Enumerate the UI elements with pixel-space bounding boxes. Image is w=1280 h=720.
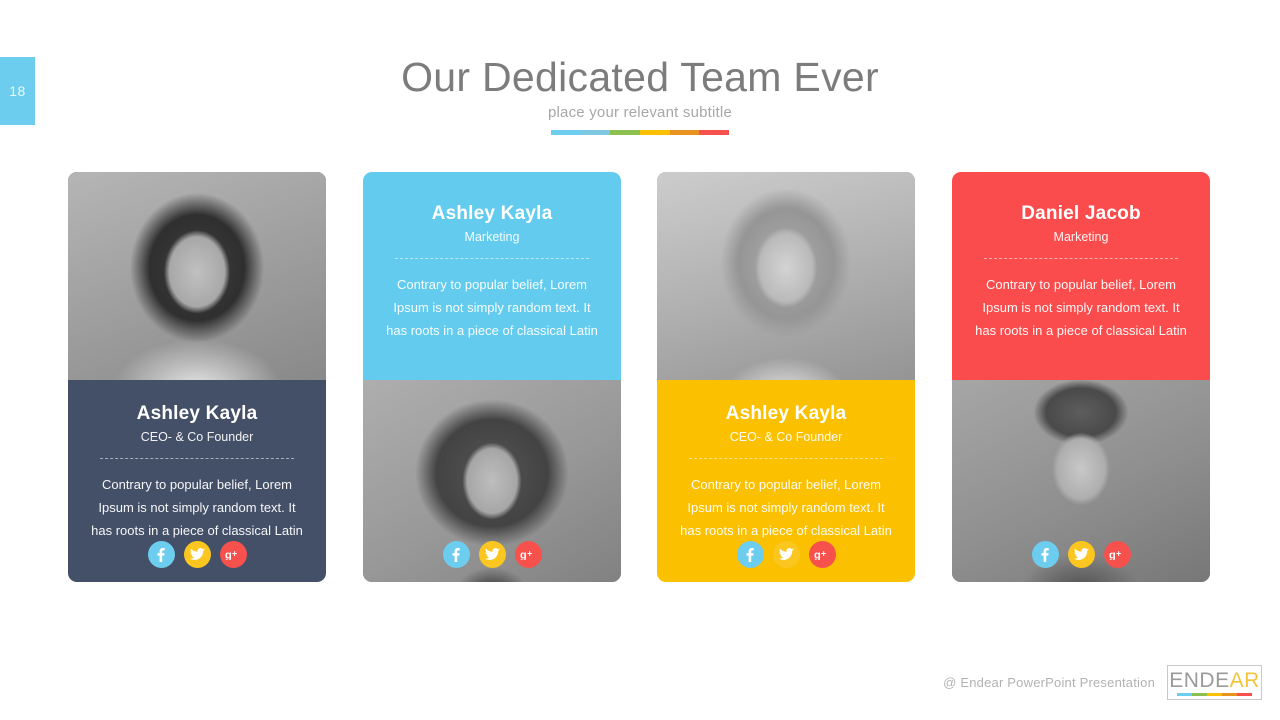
slide-root: 18 Our Dedicated Team Ever place your re… (0, 0, 1280, 720)
google-plus-icon[interactable]: g+ (515, 541, 542, 568)
svg-text:+: + (527, 549, 532, 559)
team-card-1-inner: Ashley Kayla CEO- & Co Founder Contrary … (68, 172, 326, 582)
slide-footer: @ Endear PowerPoint Presentation ENDEAR (943, 665, 1262, 700)
logo-bar-segment-1 (1177, 693, 1192, 696)
team-card-2-name: Ashley Kayla (379, 202, 605, 226)
google-plus-icon[interactable]: g+ (1104, 541, 1131, 568)
twitter-icon[interactable] (479, 541, 506, 568)
team-card-4-description: Contrary to popular belief, Lorem Ipsum … (968, 273, 1194, 342)
team-card-1-role: CEO- & Co Founder (84, 429, 310, 445)
endear-logo-part-1: ENDE (1169, 669, 1229, 692)
google-plus-icon[interactable]: g+ (220, 541, 247, 568)
team-cards-row: Ashley Kayla CEO- & Co Founder Contrary … (68, 172, 1216, 592)
team-card-4-socials: g+ (952, 541, 1210, 568)
endear-logo: ENDEAR (1167, 665, 1262, 700)
team-card-4-divider (984, 258, 1178, 259)
endear-logo-color-bar (1177, 693, 1252, 696)
team-card-3-role: CEO- & Co Founder (673, 429, 899, 445)
page-title: Our Dedicated Team Ever (0, 52, 1280, 102)
accent-segment-5 (670, 130, 700, 135)
team-card-1[interactable]: Ashley Kayla CEO- & Co Founder Contrary … (68, 172, 326, 582)
facebook-icon[interactable] (737, 541, 764, 568)
svg-text:g: g (520, 550, 527, 561)
svg-text:+: + (1116, 549, 1121, 559)
team-card-3-name: Ashley Kayla (673, 402, 899, 426)
team-card-3-socials: g+ (657, 541, 915, 568)
facebook-icon[interactable] (148, 541, 175, 568)
team-card-1-name: Ashley Kayla (84, 402, 310, 426)
svg-text:+: + (821, 549, 826, 559)
team-card-2-socials: g+ (363, 541, 621, 568)
accent-segment-4 (640, 130, 670, 135)
team-card-3-inner: Ashley Kayla CEO- & Co Founder Contrary … (657, 172, 915, 582)
endear-logo-part-2: AR (1230, 669, 1260, 692)
team-card-2-info: Ashley Kayla Marketing Contrary to popul… (363, 172, 621, 380)
page-subtitle: place your relevant subtitle (0, 104, 1280, 121)
svg-text:+: + (232, 549, 237, 559)
slide-header: Our Dedicated Team Ever place your relev… (0, 52, 1280, 135)
team-card-2[interactable]: Ashley Kayla Marketing Contrary to popul… (363, 172, 621, 582)
team-card-3-photo (657, 172, 915, 380)
accent-color-bar (551, 130, 729, 135)
team-card-1-photo (68, 172, 326, 380)
facebook-icon[interactable] (1032, 541, 1059, 568)
endear-logo-wordmark: ENDEAR (1169, 669, 1260, 693)
svg-text:g: g (225, 550, 232, 561)
google-plus-icon[interactable]: g+ (809, 541, 836, 568)
footer-credit: @ Endear PowerPoint Presentation (943, 675, 1155, 690)
team-card-4-info: Daniel Jacob Marketing Contrary to popul… (952, 172, 1210, 380)
team-card-2-inner: Ashley Kayla Marketing Contrary to popul… (363, 172, 621, 582)
team-card-1-divider (100, 458, 294, 459)
svg-text:g: g (1109, 550, 1116, 561)
accent-segment-1 (551, 130, 581, 135)
team-card-4-name: Daniel Jacob (968, 202, 1194, 226)
portrait-woman-blonde-hair-image (657, 172, 915, 380)
twitter-icon[interactable] (1068, 541, 1095, 568)
team-card-2-role: Marketing (379, 229, 605, 245)
accent-segment-6 (699, 130, 729, 135)
logo-bar-segment-3 (1207, 693, 1222, 696)
logo-bar-segment-2 (1192, 693, 1207, 696)
team-card-1-description: Contrary to popular belief, Lorem Ipsum … (84, 473, 310, 542)
portrait-woman-dark-wavy-hair-image (68, 172, 326, 380)
logo-bar-segment-5 (1237, 693, 1252, 696)
accent-segment-3 (610, 130, 640, 135)
team-card-4[interactable]: Daniel Jacob Marketing Contrary to popul… (952, 172, 1210, 582)
team-card-3[interactable]: Ashley Kayla CEO- & Co Founder Contrary … (657, 172, 915, 582)
team-card-2-divider (395, 258, 589, 259)
accent-segment-2 (581, 130, 611, 135)
team-card-4-inner: Daniel Jacob Marketing Contrary to popul… (952, 172, 1210, 582)
team-card-4-role: Marketing (968, 229, 1194, 245)
team-card-3-divider (689, 458, 883, 459)
twitter-icon[interactable] (184, 541, 211, 568)
twitter-icon[interactable] (773, 541, 800, 568)
facebook-icon[interactable] (443, 541, 470, 568)
team-card-1-socials: g+ (68, 541, 326, 568)
team-card-2-description: Contrary to popular belief, Lorem Ipsum … (379, 273, 605, 342)
logo-bar-segment-4 (1222, 693, 1237, 696)
svg-text:g: g (814, 550, 821, 561)
team-card-3-description: Contrary to popular belief, Lorem Ipsum … (673, 473, 899, 542)
